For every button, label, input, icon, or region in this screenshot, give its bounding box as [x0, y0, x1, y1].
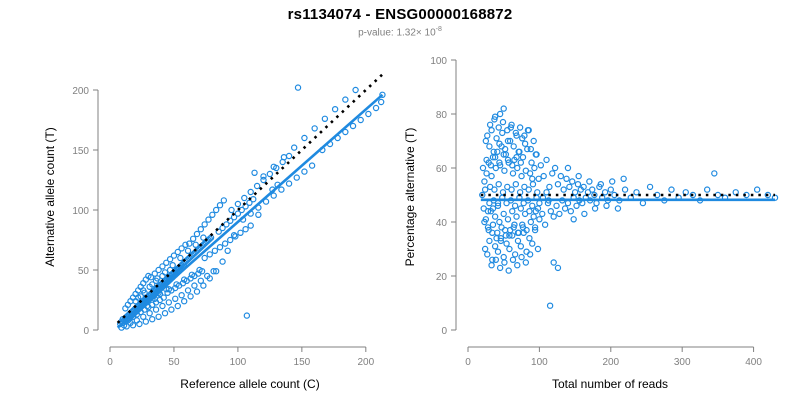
left-panel-x-tick-label: 200 — [357, 357, 374, 368]
right-panel-x-axis-label: Total number of reads — [460, 377, 760, 391]
left-panel-x-tick-label: 100 — [230, 357, 247, 368]
right-panel-y-tick-label: 20 — [436, 272, 448, 283]
right-panel-y-axis-label: Percentage alternative (T) — [403, 87, 417, 307]
left-panel-y-tick-label: 0 — [83, 326, 89, 337]
right-panel-y-tick-label: 100 — [430, 56, 447, 67]
right-panel-y-tick-label: 80 — [436, 110, 448, 121]
right-panel-y-tick-label: 40 — [436, 218, 448, 229]
left-panel-y-tick-label: 50 — [78, 266, 90, 277]
right-panel-y-tick-label: 60 — [436, 164, 448, 175]
left-panel-x-axis-label: Reference allele count (C) — [100, 377, 400, 391]
right-panel-y-tick-label: 0 — [441, 326, 447, 337]
left-panel-fit-line — [118, 95, 383, 328]
right-panel-y-axis: 020406080100 — [430, 56, 456, 337]
right-panel-x-tick-label: 200 — [602, 357, 619, 368]
left-panel-x-tick-label: 150 — [294, 357, 311, 368]
left-panel-y-tick-label: 200 — [72, 86, 89, 97]
right-panel-x-tick-label: 400 — [745, 357, 762, 368]
left-panel-y-tick-label: 100 — [72, 206, 89, 217]
left-panel-y-axis-label: Alternative allele count (T) — [43, 87, 57, 307]
right-panel: 0204060801000100200300400 — [430, 56, 777, 368]
left-panel: 050100150200050100150200 — [72, 74, 385, 368]
figure-root: rs1134074 - ENSG00000168872 p-value: 1.3… — [0, 0, 800, 400]
plot-canvas: 0501001502000501001502000204060801000100… — [0, 0, 800, 400]
right-panel-x-tick-label: 0 — [465, 357, 471, 368]
right-panel-x-tick-label: 100 — [531, 357, 548, 368]
right-panel-x-tick-label: 300 — [674, 357, 691, 368]
right-panel-x-axis: 0100200300400 — [465, 347, 762, 368]
left-panel-reference-line — [118, 74, 383, 322]
left-panel-y-axis: 050100150200 — [72, 86, 98, 337]
left-panel-x-tick-label: 50 — [168, 357, 180, 368]
right-panel-points — [480, 106, 778, 308]
left-panel-x-axis: 050100150200 — [107, 347, 374, 368]
left-panel-y-tick-label: 150 — [72, 146, 89, 157]
left-panel-x-tick-label: 0 — [107, 357, 113, 368]
